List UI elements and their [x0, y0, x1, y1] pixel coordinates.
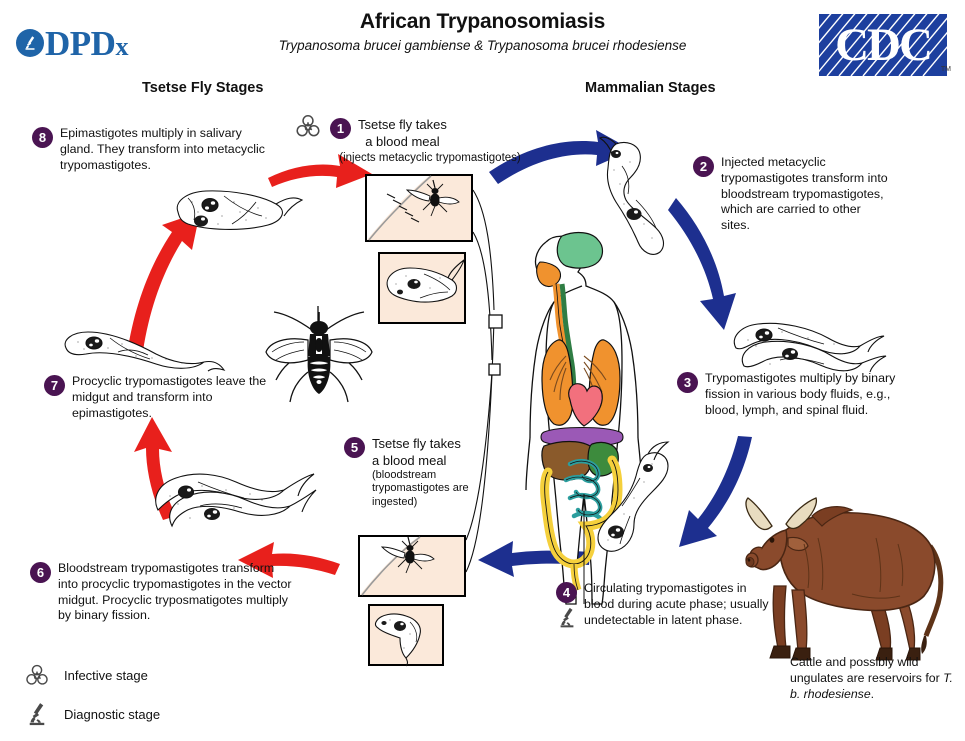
biohazard-icon	[294, 112, 322, 140]
step-1-line1: Tsetse fly takes	[358, 117, 447, 134]
inset-connector-lines	[466, 190, 494, 572]
arrow-red-7-to-6	[134, 417, 176, 520]
step-7-text: Procyclic trypomastigotes leave the midg…	[72, 374, 279, 421]
heading-mammalian-stages: Mammalian Stages	[585, 80, 716, 96]
step-7-badge: 7	[44, 375, 65, 396]
legend-label-infective: Infective stage	[64, 668, 148, 683]
step-5-badge: 5	[344, 437, 365, 458]
microscope-icon	[24, 701, 50, 728]
inset-trypomastigote-magnified-top	[378, 252, 466, 324]
step-8: 8 Epimastigotes multiply in salivary gla…	[32, 126, 267, 173]
step-6-badge: 6	[30, 562, 51, 583]
organism-trypomastigote-binary-fission	[734, 323, 886, 372]
step-1-line2: a blood meal	[358, 134, 447, 151]
step-4-text: Circulating trypomastigotes in blood dur…	[584, 581, 771, 628]
step-3-badge: 3	[677, 372, 698, 393]
cattle-caption-text: Cattle and possibly wild ungulates are r…	[790, 655, 943, 685]
step-5-note: (bloodstream trypomastigotes are ingeste…	[372, 469, 474, 509]
cattle-caption: Cattle and possibly wild ungulates are r…	[790, 655, 958, 703]
step-8-badge: 8	[32, 127, 53, 148]
legend-item-diagnostic: Diagnostic stage	[24, 701, 160, 728]
inset-fly-biting-skin-top	[365, 174, 473, 242]
step-5: 5 Tsetse fly takes a blood meal (bloodst…	[344, 436, 474, 509]
cattle-illustration	[746, 498, 941, 660]
legend-item-infective: Infective stage	[24, 662, 160, 688]
arrow-navy-4-to-5	[478, 541, 590, 577]
step-1-note: (injects metacyclic trypomastigotes)	[330, 152, 530, 164]
step-3-text: Trypomastigotes multiply by binary fissi…	[705, 371, 902, 418]
step-4-badge: 4	[556, 582, 577, 603]
step-1-badge: 1	[330, 118, 351, 139]
cdc-logo: CDC	[819, 14, 947, 76]
cattle-caption-end: .	[871, 687, 874, 701]
cdc-trademark: TM	[941, 66, 951, 73]
legend: Infective stage Diagnostic stage	[24, 662, 160, 741]
organism-epimastigote-salivary	[177, 191, 302, 230]
step-6-text: Bloodstream trypomastigotes transform in…	[58, 561, 295, 624]
biohazard-icon	[24, 662, 50, 688]
organism-procyclic-binary-fission	[156, 474, 316, 526]
step-7: 7 Procyclic trypomastigotes leave the mi…	[44, 374, 279, 421]
cdc-text: CDC	[819, 14, 947, 76]
human-body-illustration	[526, 233, 642, 604]
tsetse-fly-illustration	[266, 306, 372, 402]
organism-procyclic-trypomastigote	[65, 332, 224, 371]
step-4: 4 Circulating trypomastigotes in blood d…	[556, 581, 771, 628]
microscope-icon	[556, 606, 578, 630]
organism-circulating-trypomastigote	[598, 442, 668, 551]
step-3: 3 Trypomastigotes multiply by binary fis…	[677, 371, 902, 418]
arrow-red-8-to-7	[128, 212, 200, 351]
inset-anchor-markers	[489, 315, 502, 375]
inset-fly-biting-skin-bottom	[358, 535, 466, 597]
step-8-text: Epimastigotes multiply in salivary gland…	[60, 126, 267, 173]
arrow-navy-3-to-4	[679, 436, 752, 547]
step-2-text: Injected metacyclic trypomastigotes tran…	[721, 155, 893, 234]
step-6: 6 Bloodstream trypomastigotes transform …	[30, 561, 295, 624]
step-2: 2 Injected metacyclic trypomastigotes tr…	[693, 155, 893, 234]
life-cycle-artwork	[0, 0, 965, 737]
step-5-line2: a blood meal	[372, 453, 461, 470]
step-5-line1: Tsetse fly takes	[372, 436, 461, 453]
inset-trypomastigote-magnified-bottom	[368, 604, 444, 666]
step-1: 1 Tsetse fly takes a blood meal (injects…	[330, 117, 530, 164]
legend-label-diagnostic: Diagnostic stage	[64, 707, 160, 722]
step-2-badge: 2	[693, 156, 714, 177]
organism-metacyclic-trypomastigote	[600, 137, 663, 254]
heading-tsetse-fly-stages: Tsetse Fly Stages	[142, 80, 263, 96]
